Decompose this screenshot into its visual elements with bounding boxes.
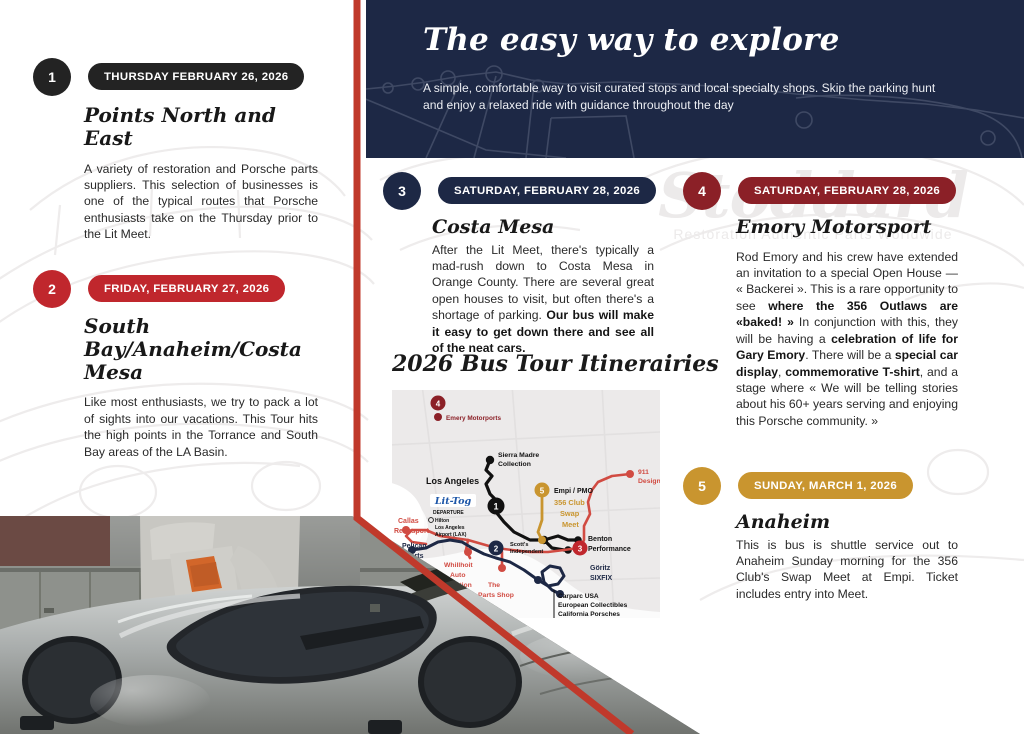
page-title: The easy way to explore	[423, 22, 840, 58]
svg-text:3: 3	[578, 544, 583, 553]
svg-text:Lit-Tog: Lit-Tog	[434, 496, 472, 507]
card-5-body: This is bus is shuttle service out to An…	[736, 537, 958, 603]
card-3-header: 3 SATURDAY, FEBRUARY 28, 2026	[383, 172, 658, 200]
card-1-header: 1 THURSDAY FEBRUARY 26, 2026	[33, 58, 323, 86]
svg-text:Göritz: Göritz	[590, 565, 611, 572]
card-2-number-badge: 2	[33, 270, 71, 308]
svg-text:Benton: Benton	[588, 536, 612, 543]
svg-text:911: 911	[638, 469, 649, 476]
svg-text:DEPARTURE: DEPARTURE	[433, 510, 464, 516]
svg-text:Auto: Auto	[450, 572, 465, 579]
svg-text:5: 5	[540, 486, 545, 495]
svg-text:California Porsches: California Porsches	[558, 611, 620, 618]
svg-text:European Collectibles: European Collectibles	[558, 602, 628, 609]
svg-text:Airport (LAX): Airport (LAX)	[435, 532, 467, 538]
itinerary-card-3: 3 SATURDAY, FEBRUARY 28, 2026 Costa Mesa…	[383, 172, 658, 357]
itinerary-card-4: 4 SATURDAY, FEBRUARY 28, 2026 Emory Moto…	[683, 172, 973, 429]
svg-text:2: 2	[494, 544, 499, 553]
card-3-number-badge: 3	[383, 172, 421, 210]
svg-text:Swap: Swap	[560, 509, 580, 518]
card-4-body-part-4: . There will be a	[805, 348, 895, 362]
card-2-title: South Bay/Anaheim/Costa Mesa	[84, 315, 324, 383]
svg-text:Rennsport: Rennsport	[394, 528, 430, 535]
card-2-date-pill: FRIDAY, FEBRUARY 27, 2026	[88, 275, 285, 302]
svg-text:Pelican: Pelican	[402, 543, 427, 550]
card-4-header: 4 SATURDAY, FEBRUARY 28, 2026	[683, 172, 973, 200]
card-1-title: Points North and East	[84, 104, 323, 150]
card-5-date-pill: SUNDAY, MARCH 1, 2026	[738, 472, 913, 499]
card-3-body: After the Lit Meet, there's typically a …	[432, 242, 654, 357]
svg-text:Emery Motorports: Emery Motorports	[446, 415, 501, 422]
svg-text:Empi / PMO: Empi / PMO	[554, 488, 593, 495]
svg-text:Collection: Collection	[498, 461, 531, 468]
svg-text:Los Angeles: Los Angeles	[426, 476, 479, 486]
card-4-date-pill: SATURDAY, FEBRUARY 28, 2026	[738, 177, 956, 204]
svg-text:The: The	[488, 582, 500, 589]
svg-text:Whillhoit: Whillhoit	[444, 562, 473, 569]
svg-text:Independent: Independent	[510, 549, 543, 555]
svg-text:1: 1	[493, 502, 498, 512]
card-4-body: Rod Emory and his crew have extended an …	[736, 249, 958, 429]
svg-text:SIXFIX: SIXFIX	[590, 575, 613, 582]
card-1-date-pill: THURSDAY FEBRUARY 26, 2026	[88, 63, 304, 90]
svg-text:Carparc USA: Carparc USA	[558, 593, 599, 600]
card-2-header: 2 FRIDAY, FEBRUARY 27, 2026	[33, 270, 323, 298]
poster-page: The easy way to explore A simple, comfor…	[0, 0, 1024, 734]
svg-text:356 Club: 356 Club	[554, 498, 585, 507]
card-5-header: 5 SUNDAY, MARCH 1, 2026	[683, 467, 973, 495]
itinerary-card-1: 1 THURSDAY FEBRUARY 26, 2026 Points Nort…	[33, 58, 323, 243]
svg-text:Hilton: Hilton	[435, 518, 449, 524]
svg-text:Parts Shop: Parts Shop	[478, 592, 514, 599]
itinerary-card-2: 2 FRIDAY, FEBRUARY 27, 2026 South Bay/An…	[33, 270, 323, 460]
itinerary-card-5: 5 SUNDAY, MARCH 1, 2026 Anaheim This is …	[683, 467, 973, 602]
page-subtitle: A simple, comfortable way to visit curat…	[423, 80, 953, 114]
card-3-date-pill: SATURDAY, FEBRUARY 28, 2026	[438, 177, 656, 204]
card-5-number-badge: 5	[683, 467, 721, 505]
svg-text:Meet: Meet	[562, 520, 579, 529]
header-band: The easy way to explore A simple, comfor…	[366, 0, 1024, 158]
svg-text:Design: Design	[638, 478, 660, 485]
card-4-number-badge: 4	[683, 172, 721, 210]
card-2-body: Like most enthusiasts, we try to pack a …	[84, 394, 318, 460]
svg-text:Scott's: Scott's	[510, 542, 528, 548]
map-heading: 2026 Bus Tour Itinerairies	[392, 351, 719, 377]
svg-text:Performance: Performance	[588, 546, 631, 553]
card-1-body: A variety of restoration and Porsche par…	[84, 161, 318, 243]
card-5-title: Anaheim	[736, 512, 973, 534]
svg-text:4: 4	[436, 399, 441, 408]
card-4-body-part-7: commemorative T-shirt	[785, 365, 920, 379]
svg-text:Sierra Madre: Sierra Madre	[498, 452, 539, 459]
card-3-title: Costa Mesa	[432, 217, 658, 239]
svg-text:Callas: Callas	[398, 518, 419, 525]
card-4-title: Emory Motorsport	[736, 217, 973, 239]
svg-text:Los Angeles: Los Angeles	[435, 525, 465, 531]
card-1-number-badge: 1	[33, 58, 71, 96]
